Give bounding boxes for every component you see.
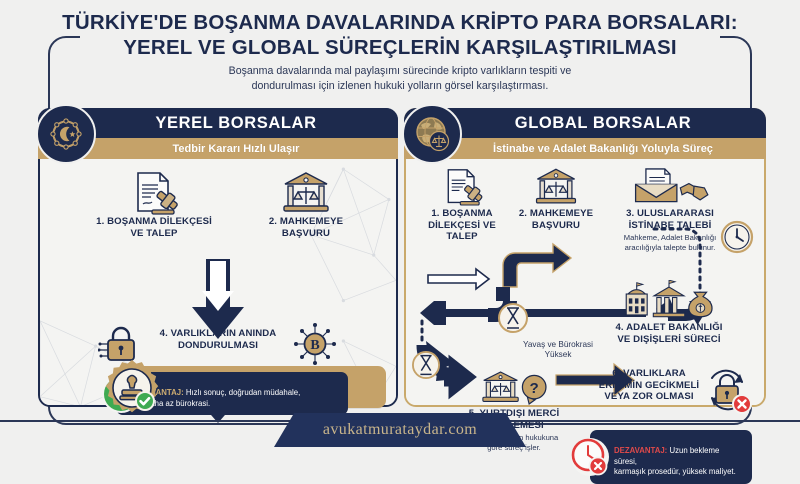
subtitle-line-1: Boşanma davalarında mal paylaşımı süreci… bbox=[0, 64, 800, 79]
svg-text:?: ? bbox=[530, 380, 539, 397]
left-panel-subtitle: Tedbir Kararı Hızlı Ulaşır bbox=[137, 143, 300, 155]
right-step-6-label: 6. VARLIKLARA ERİŞİMİN GECİKMELİ VEYA ZO… bbox=[584, 368, 714, 403]
left-step-1-label: 1. BOŞANMA DİLEKÇESİ VE TALEP bbox=[92, 216, 216, 239]
right-step-3-desc: Mahkeme, Adalet Bakanlığı aracılığıyla t… bbox=[602, 233, 738, 252]
envelope-handshake-icon bbox=[627, 166, 713, 208]
footer-ribbon[interactable]: avukatmurataydar.com bbox=[274, 413, 526, 447]
right-delay-note: Yavaş ve Bürokrasi Yüksek bbox=[498, 340, 618, 360]
stamp-check-icon bbox=[104, 360, 160, 416]
right-step-3: 3. ULUSLARARASI İSTİNABE TALEBİ Mahkeme,… bbox=[602, 166, 738, 252]
left-step-2: 2. MAHKEMEYE BAŞVURU bbox=[244, 170, 368, 239]
page-subtitle: Boşanma davalarında mal paylaşımı süreci… bbox=[0, 64, 800, 94]
left-step-4-label: 4. VARLIKLARIN ANINDA DONDURULMASI bbox=[148, 328, 288, 351]
subtitle-line-2: dondurulması için izlenen hukuki yolları… bbox=[0, 79, 800, 94]
hourglass-icon-2 bbox=[412, 350, 440, 380]
page-title: TÜRKİYE'DE BOŞANMA DAVALARINDA KRİPTO PA… bbox=[0, 10, 800, 60]
bitcoin-node-icon: B bbox=[290, 320, 340, 368]
clock-icon bbox=[720, 220, 754, 254]
left-step-1: 1. BOŞANMA DİLEKÇESİ VE TALEP bbox=[92, 170, 216, 239]
right-panel-title: GLOBAL BORSALAR bbox=[479, 114, 691, 133]
right-step-3-label: 3. ULUSLARARASI İSTİNABE TALEBİ bbox=[602, 208, 738, 231]
left-step-2-label: 2. MAHKEMEYE BAŞVURU bbox=[244, 216, 368, 239]
globe-scales-icon bbox=[402, 104, 462, 164]
right-step-1: 1. BOŞANMA DİLEKÇESİ VE TALEP bbox=[414, 166, 510, 243]
courthouse-scales-icon bbox=[533, 166, 579, 208]
right-disadvantage-note: DEZAVANTAJ: Uzun bekleme süresi, karmaşı… bbox=[590, 430, 752, 484]
panel-local-exchanges: YEREL BORSALAR Tedbir Kararı Hızlı Ulaşı… bbox=[38, 108, 398, 407]
right-disadvantage-keyword: DEZAVANTAJ: bbox=[614, 446, 667, 455]
website-link[interactable]: avukatmurataydar.com bbox=[323, 421, 477, 439]
courthouse-scales-icon bbox=[280, 170, 332, 216]
right-panel-subtitle: İstinabe ve Adalet Bakanlığı Yoluyla Sür… bbox=[457, 143, 713, 155]
title-line-2: YEREL VE GLOBAL SÜREÇLERİN KARŞILAŞTIRIL… bbox=[0, 35, 800, 60]
left-panel-title: YEREL BORSALAR bbox=[119, 114, 316, 133]
clock-cross-icon bbox=[571, 438, 609, 476]
courthouse-question-icon: ? bbox=[477, 368, 551, 408]
hourglass-icon bbox=[498, 302, 528, 334]
right-disadvantage-text: DEZAVANTAJ: Uzun bekleme süresi, karmaşı… bbox=[590, 430, 752, 484]
document-gavel-icon bbox=[126, 170, 182, 216]
right-step-4: 4. ADALET BAKANLIĞI VE DIŞİŞLERİ SÜRECİ bbox=[594, 280, 744, 345]
right-step-6: 6. VARLIKLARA ERİŞİMİN GECİKMELİ VEYA ZO… bbox=[584, 368, 714, 403]
right-step-1-label: 1. BOŞANMA DİLEKÇESİ VE TALEP bbox=[414, 208, 510, 243]
locked-delay-icon bbox=[700, 364, 754, 416]
right-step-2: 2. MAHKEMEYE BAŞVURU bbox=[504, 166, 608, 231]
crescent-star-icon bbox=[36, 104, 96, 164]
left-step-4: 4. VARLIKLARIN ANINDA DONDURULMASI bbox=[148, 328, 288, 351]
panel-global-exchanges: GLOBAL BORSALAR İstinabe ve Adalet Bakan… bbox=[404, 108, 766, 407]
right-step-2-label: 2. MAHKEMEYE BAŞVURU bbox=[504, 208, 608, 231]
ministry-buildings-moneybag-icon bbox=[621, 280, 717, 322]
document-gavel-icon bbox=[438, 166, 486, 208]
title-line-1: TÜRKİYE'DE BOŞANMA DAVALARINDA KRİPTO PA… bbox=[0, 10, 800, 35]
svg-text:B: B bbox=[310, 338, 319, 353]
